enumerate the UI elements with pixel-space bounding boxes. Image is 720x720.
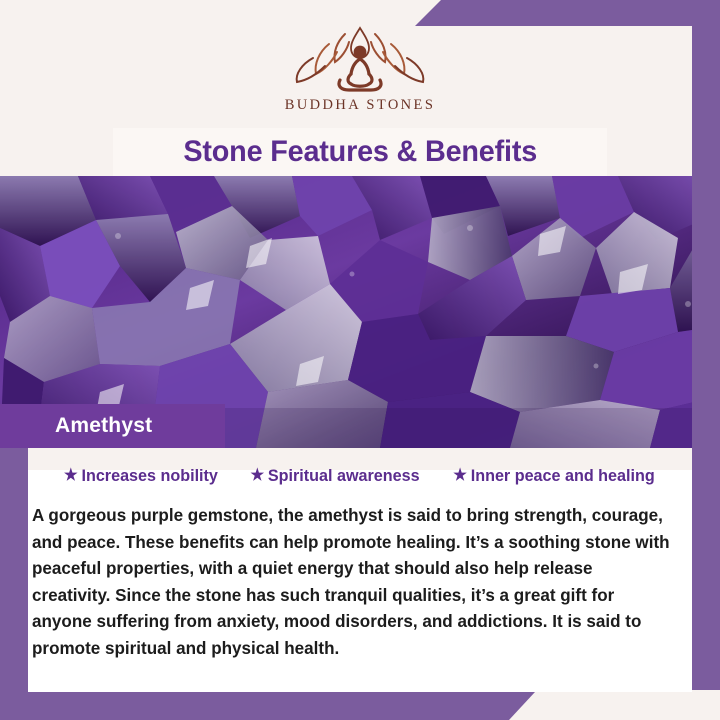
stone-name-badge: Amethyst <box>0 404 225 448</box>
description-paragraph: A gorgeous purple gemstone, the amethyst… <box>32 502 672 661</box>
frame-accent-top-right <box>415 0 720 26</box>
frame-accent-left <box>0 448 28 720</box>
content-panel: ★ Increases nobility ★ Spiritual awarene… <box>28 448 692 692</box>
page-title: Stone Features & Benefits <box>183 135 537 169</box>
lotus-meditation-figure-icon <box>285 22 435 92</box>
feature-item-2: ★ Inner peace and healing <box>453 466 654 486</box>
feature-item-0: ★ Increases nobility <box>64 466 218 486</box>
star-icon: ★ <box>250 468 264 484</box>
feature-label: Inner peace and healing <box>471 466 655 486</box>
brand-name: BUDDHA STONES <box>285 97 436 114</box>
feature-label: Spiritual awareness <box>268 466 420 486</box>
feature-list: ★ Increases nobility ★ Spiritual awarene… <box>28 466 692 486</box>
brand-logo: BUDDHA STONES <box>0 22 720 114</box>
feature-label: Increases nobility <box>81 466 217 486</box>
page-title-bar: Stone Features & Benefits <box>113 128 607 176</box>
star-icon: ★ <box>453 468 467 484</box>
feature-item-1: ★ Spiritual awareness <box>250 466 419 486</box>
stone-name-label: Amethyst <box>55 414 152 438</box>
star-icon: ★ <box>64 468 78 484</box>
frame-accent-right <box>692 0 720 690</box>
stone-benefits-infographic: BUDDHA STONES Stone Features & Benefits <box>0 0 720 720</box>
frame-accent-bottom-left <box>0 692 535 720</box>
